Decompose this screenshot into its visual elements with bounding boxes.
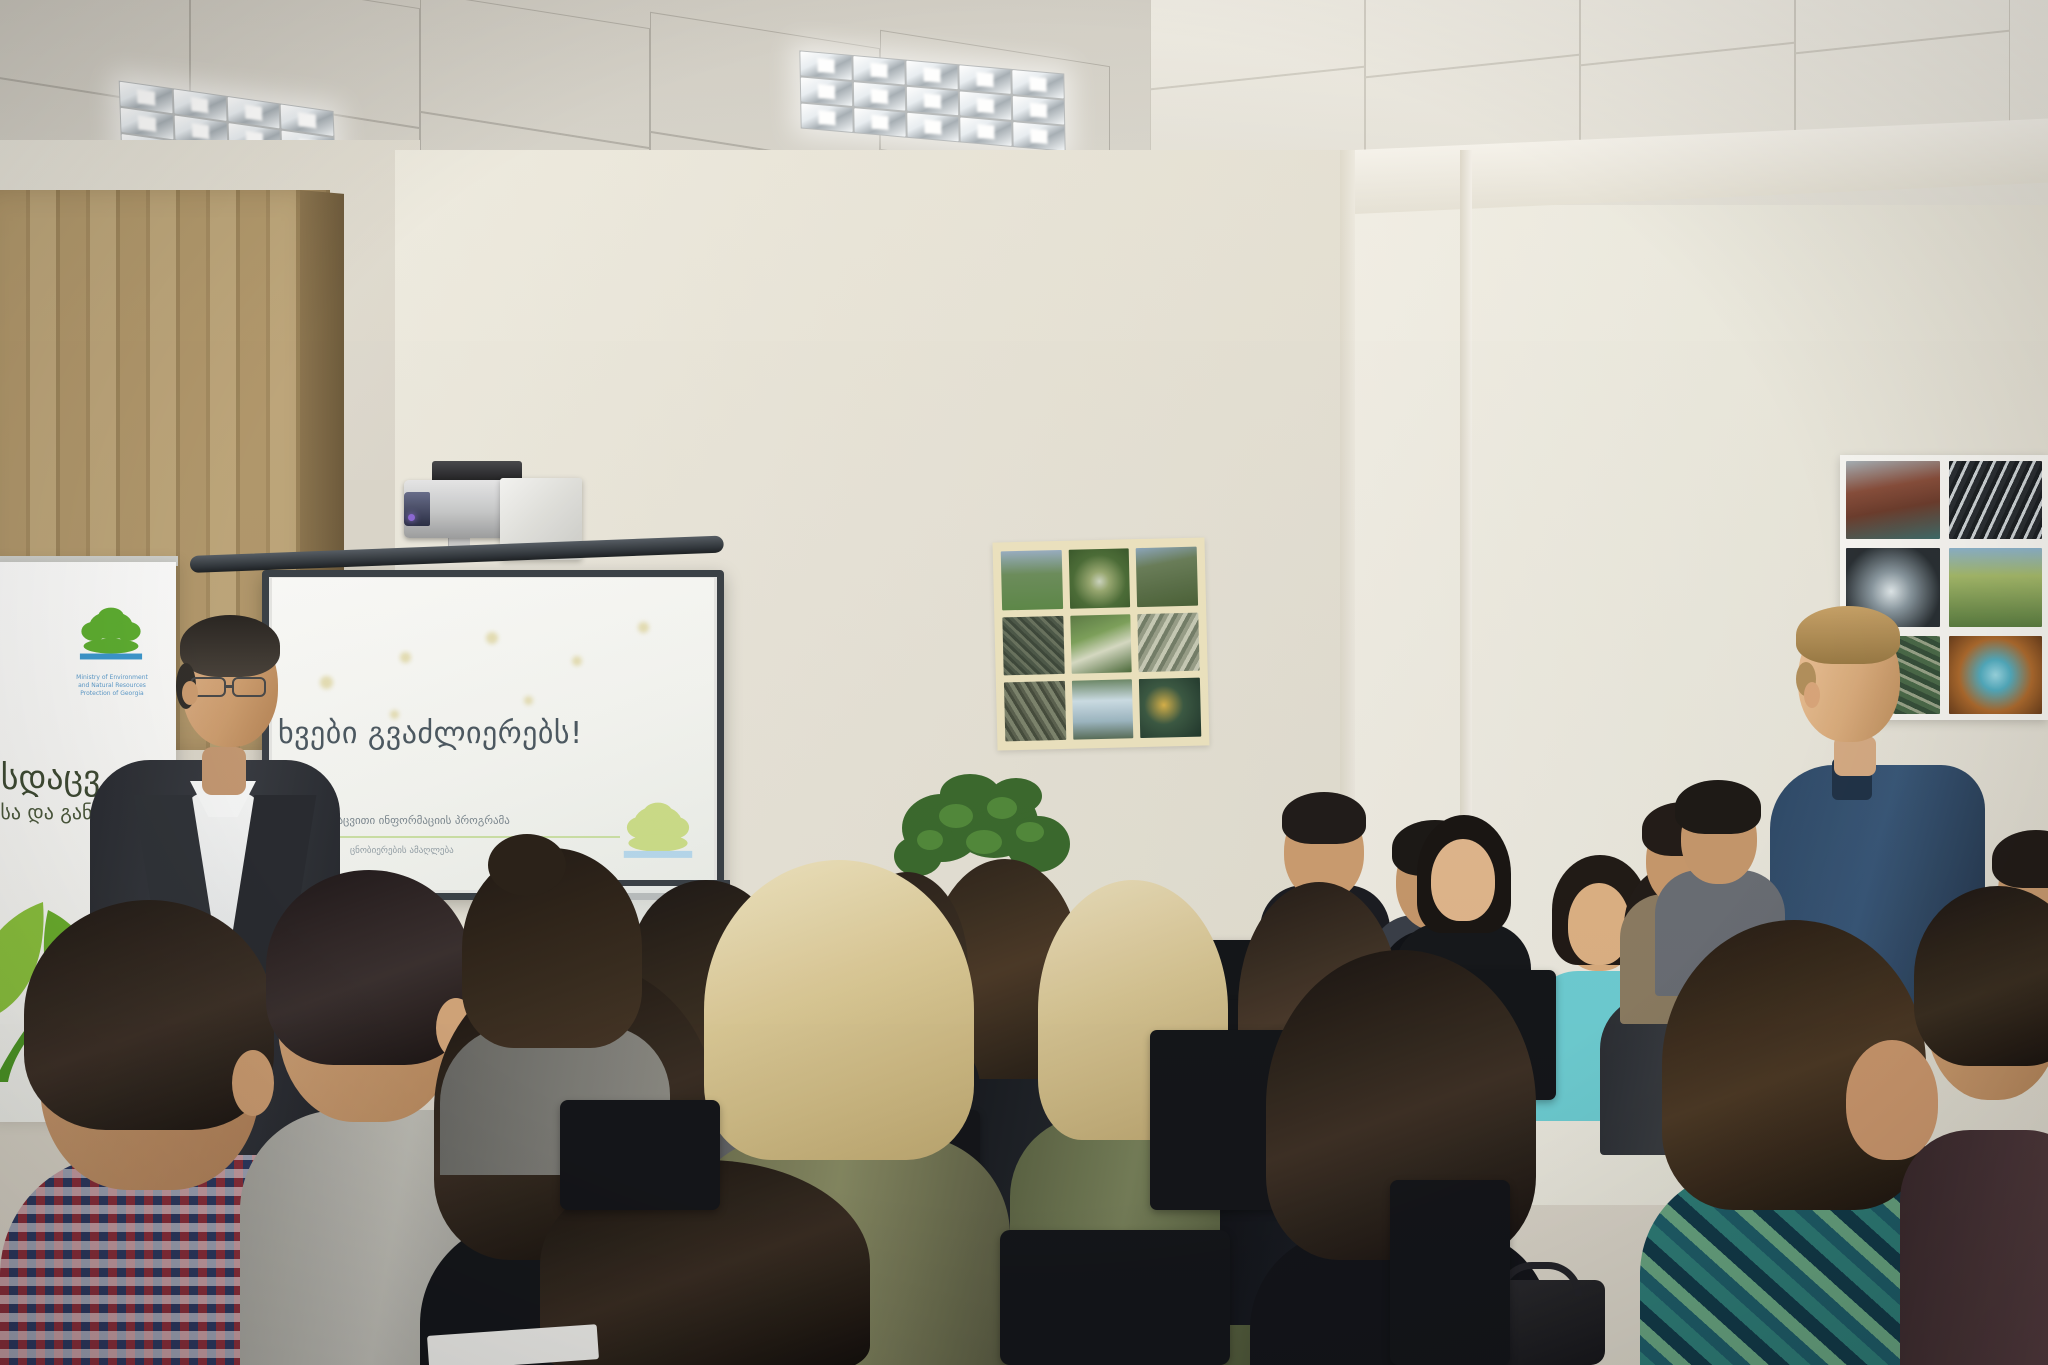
chair: [1000, 1230, 1230, 1365]
poster-photo-rocky-peak: [1136, 547, 1198, 607]
audience-member: [1900, 880, 2048, 1365]
poster-photo-waterfall: [1072, 680, 1134, 740]
projector-lens: [404, 492, 430, 526]
poster-photo-geothermal-pools: [1139, 678, 1201, 738]
chair: [560, 1100, 720, 1210]
poster-photo-forest-canopy: [1002, 616, 1064, 676]
chair: [1390, 1180, 1510, 1365]
framed-photo-volcanic-shore: [1846, 461, 1940, 539]
photo-scene: ხვები გვაძლიერებს! გარემოსდაცვითი ინფორმ…: [0, 0, 2048, 1365]
poster-photo-green-hillside: [1001, 550, 1063, 610]
poster-photo-river-delta: [1070, 614, 1132, 674]
poster-photo-alpine-rock: [1004, 681, 1066, 741]
poster-photo-grid: [1001, 547, 1202, 742]
banner-headline: ოსდაცვ: [0, 758, 100, 798]
poster-photo-mountain-ridge: [1138, 612, 1200, 672]
poster-photo-crater-lake: [1068, 548, 1130, 608]
slide-title: ხვები გვაძლიერებს!: [278, 716, 714, 751]
nature-photo-poster: [992, 537, 1209, 750]
framed-photo-braided-glacier-river: [1949, 461, 2043, 539]
